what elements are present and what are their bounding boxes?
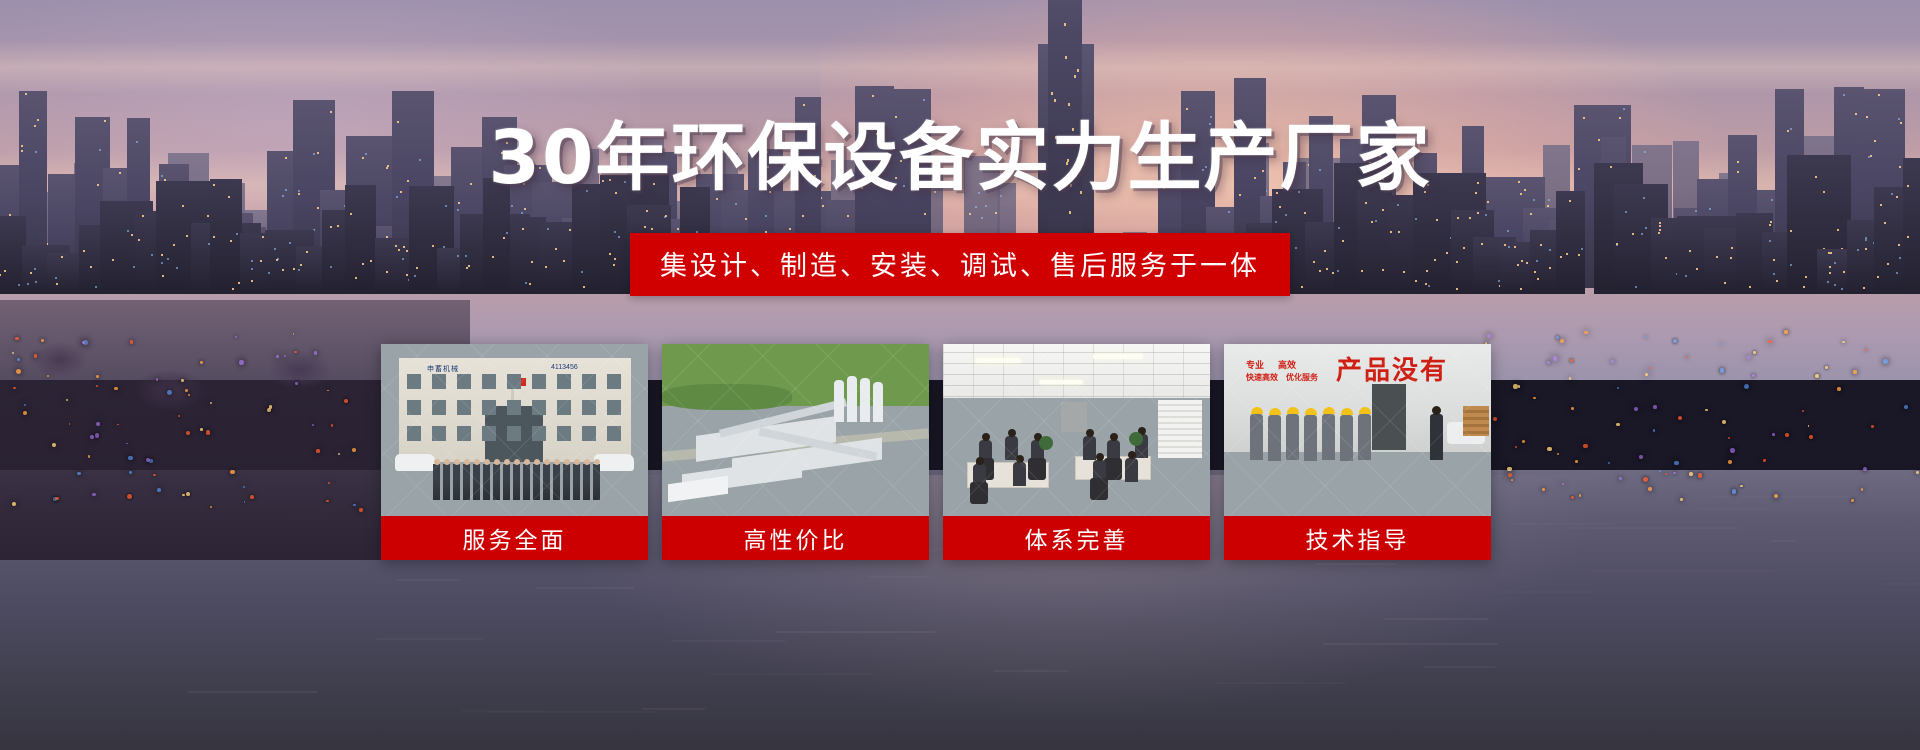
- building-window-light: [406, 250, 408, 252]
- building-window-light: [1827, 281, 1829, 283]
- building-window-light: [1456, 261, 1458, 263]
- building-window-light: [306, 251, 308, 253]
- building-window-light: [1361, 270, 1363, 272]
- feature-card[interactable]: 产品没有 专业 高效 快速高效 优化服务 技术指导: [1224, 344, 1491, 560]
- city-light: [90, 435, 94, 439]
- city-light: [130, 340, 133, 343]
- water-streak: [994, 670, 1068, 672]
- water-streak: [536, 587, 633, 589]
- city-light: [200, 428, 203, 431]
- city-light: [1784, 330, 1788, 334]
- building-window-light: [1285, 214, 1287, 216]
- building-window-light: [1749, 286, 1751, 288]
- city-light: [181, 379, 184, 382]
- water-streak: [1567, 527, 1738, 529]
- building-window-light: [1843, 271, 1845, 273]
- city-light: [353, 504, 355, 506]
- building-window-light: [268, 272, 270, 274]
- water-streak: [188, 691, 318, 693]
- city-light: [284, 355, 286, 357]
- building-window-light: [569, 229, 571, 231]
- building-window-light: [298, 269, 300, 271]
- building-window-light: [1830, 252, 1832, 254]
- building-window-light: [186, 235, 188, 237]
- building-window-light: [466, 267, 468, 269]
- building-window-light: [1428, 285, 1430, 287]
- city-light: [1511, 479, 1513, 481]
- building-window-light: [213, 236, 215, 238]
- building-window-light: [161, 254, 163, 256]
- city-light: [128, 456, 133, 461]
- building-window-light: [555, 248, 557, 250]
- building-window-light: [1415, 218, 1417, 220]
- building-window-light: [524, 208, 526, 210]
- building-window-light: [506, 232, 508, 234]
- building-window-light: [232, 288, 234, 290]
- building-window-light: [236, 233, 238, 235]
- building-window-light: [432, 245, 434, 247]
- building-window-light: [251, 280, 253, 282]
- building-window-light: [529, 283, 531, 285]
- city-light: [1732, 489, 1736, 493]
- watermark-mesh: [662, 344, 929, 516]
- city-light: [276, 355, 278, 357]
- building-window-light: [1877, 276, 1879, 278]
- feature-card-list: 申蓄机械 4113456 服务全面: [381, 344, 1491, 560]
- building-window-light: [1463, 247, 1465, 249]
- building-window-light: [1456, 288, 1458, 290]
- building-window-light: [1540, 244, 1542, 246]
- building-window-light: [1504, 244, 1506, 246]
- building-window-light: [362, 263, 364, 265]
- building-window-light: [83, 250, 85, 252]
- building-window-light: [1382, 209, 1384, 211]
- city-light: [1513, 384, 1517, 388]
- watermark-mesh: [381, 344, 648, 516]
- city-light: [34, 354, 37, 357]
- water-streak: [376, 638, 483, 640]
- building-window-light: [1457, 217, 1459, 219]
- page-title: 30年环保设备实力生产厂家: [0, 98, 1920, 205]
- building-window-light: [1659, 229, 1661, 231]
- city-light: [1575, 460, 1578, 463]
- water-streak: [1498, 591, 1592, 593]
- building-window-light: [511, 205, 513, 207]
- city-light: [1809, 435, 1813, 439]
- building-window-light: [581, 271, 583, 273]
- card-photo-company-office-building-with-staff: 申蓄机械 4113456: [381, 344, 648, 516]
- building-window-light: [330, 266, 332, 268]
- city-light: [1583, 444, 1587, 448]
- building-window-light: [251, 260, 253, 262]
- skyline-building: [1556, 191, 1584, 294]
- feature-card[interactable]: 高性价比: [662, 344, 929, 560]
- city-light: [23, 411, 27, 415]
- building-window-light: [646, 210, 648, 212]
- building-window-light: [274, 248, 276, 250]
- city-light: [1560, 339, 1564, 343]
- water-streak: [1713, 496, 1853, 498]
- city-light: [230, 470, 234, 474]
- building-window-light: [677, 228, 679, 230]
- building-window-light: [262, 236, 264, 238]
- building-window-light: [27, 283, 29, 285]
- city-light: [1643, 477, 1648, 482]
- city-light: [96, 422, 100, 426]
- water-streak: [1323, 643, 1498, 645]
- building-window-light: [1658, 232, 1660, 234]
- building-window-light: [330, 226, 332, 228]
- building-window-light: [1834, 284, 1836, 286]
- city-light: [235, 336, 237, 338]
- city-light: [1853, 370, 1856, 373]
- city-light: [1659, 470, 1661, 472]
- building-window-light: [872, 95, 874, 97]
- building-window-light: [1865, 248, 1867, 250]
- building-window-light: [1635, 286, 1637, 288]
- water-streak: [1698, 508, 1768, 510]
- water-streak: [868, 576, 933, 578]
- city-light: [1584, 331, 1587, 334]
- building-window-light: [1863, 287, 1865, 289]
- building-window-light: [398, 249, 400, 251]
- city-light: [24, 404, 26, 406]
- building-window-light: [386, 271, 388, 273]
- building-window-light: [1279, 206, 1281, 208]
- building-window-light: [847, 215, 849, 217]
- feature-card[interactable]: 申蓄机械 4113456 服务全面: [381, 344, 648, 560]
- building-window-light: [1632, 233, 1634, 235]
- building-window-light: [289, 242, 291, 244]
- building-window-light: [1342, 240, 1344, 242]
- building-window-light: [260, 260, 262, 262]
- building-window-light: [30, 272, 32, 274]
- building-window-light: [1665, 257, 1667, 259]
- building-window-light: [1469, 217, 1471, 219]
- building-window-light: [531, 261, 533, 263]
- building-window-light: [1770, 221, 1772, 223]
- building-window-light: [1517, 264, 1519, 266]
- water-streak: [397, 579, 459, 581]
- city-light: [1653, 405, 1656, 408]
- building-window-light: [355, 277, 357, 279]
- city-light: [1904, 405, 1908, 409]
- building-window-light: [1549, 249, 1551, 251]
- building-window-light: [1689, 250, 1691, 252]
- city-light: [1522, 440, 1525, 443]
- building-window-light: [337, 225, 339, 227]
- building-window-light: [1773, 259, 1775, 261]
- city-light: [117, 424, 119, 426]
- city-light: [210, 402, 212, 404]
- city-light: [1542, 488, 1545, 491]
- building-window-light: [1403, 271, 1405, 273]
- building-window-light: [1641, 233, 1643, 235]
- building-window-light: [1521, 260, 1523, 262]
- building-window-light: [1228, 211, 1230, 213]
- building-window-light: [822, 205, 824, 207]
- building-window-light: [457, 209, 459, 211]
- city-light: [186, 431, 190, 435]
- water-streak: [775, 631, 935, 633]
- building-window-light: [282, 269, 284, 271]
- card-photo-office-interior-with-employees: [943, 344, 1210, 516]
- building-window-light: [492, 256, 494, 258]
- building-window-light: [161, 262, 163, 264]
- building-window-light: [1436, 219, 1438, 221]
- building-window-light: [522, 228, 524, 230]
- card-label: 高性价比: [662, 516, 929, 560]
- building-window-light: [745, 218, 747, 220]
- building-window-light: [35, 281, 37, 283]
- city-light: [1648, 487, 1652, 491]
- building-window-light: [975, 206, 977, 208]
- building-window-light: [563, 260, 565, 262]
- building-window-light: [1709, 208, 1711, 210]
- building-window-light: [112, 259, 114, 261]
- building-window-light: [1530, 213, 1532, 215]
- building-window-light: [525, 282, 527, 284]
- building-window-light: [1884, 222, 1886, 224]
- building-window-light: [1790, 230, 1792, 232]
- building-window-light: [1313, 261, 1315, 263]
- building-window-light: [445, 205, 447, 207]
- building-window-light: [969, 213, 971, 215]
- building-window-light: [151, 254, 153, 256]
- building-window-light: [127, 230, 129, 232]
- city-light: [1653, 429, 1656, 432]
- city-light: [1747, 356, 1750, 359]
- watermark-mesh: [943, 344, 1210, 516]
- building-window-light: [406, 274, 408, 276]
- building-window-light: [468, 265, 470, 267]
- building-window-light: [370, 260, 372, 262]
- city-light: [1570, 359, 1573, 362]
- building-window-light: [1477, 212, 1479, 214]
- city-light: [1842, 341, 1844, 343]
- building-window-light: [665, 215, 667, 217]
- building-window-light: [1481, 243, 1483, 245]
- city-light: [316, 449, 319, 452]
- building-window-light: [644, 226, 646, 228]
- city-light: [1533, 397, 1536, 400]
- skyline-building: [1357, 189, 1389, 294]
- building-window-light: [1390, 231, 1392, 233]
- building-window-light: [1803, 286, 1805, 288]
- building-window-light: [614, 231, 616, 233]
- building-window-light: [56, 283, 58, 285]
- subtitle-banner: 集设计、制造、安装、调试、售后服务于一体: [630, 233, 1290, 296]
- building-window-light: [1295, 247, 1297, 249]
- city-light: [1916, 471, 1919, 474]
- building-window-light: [1616, 243, 1618, 245]
- water-streak: [642, 708, 705, 710]
- tower-light: [1077, 69, 1079, 72]
- building-window-light: [277, 258, 279, 260]
- building-window-light: [1338, 227, 1340, 229]
- building-window-light: [142, 215, 144, 217]
- building-window-light: [162, 275, 164, 277]
- city-light: [1547, 447, 1551, 451]
- feature-card[interactable]: 体系完善: [943, 344, 1210, 560]
- building-window-light: [1898, 244, 1900, 246]
- city-light: [312, 424, 314, 426]
- building-window-light: [1446, 252, 1448, 254]
- building-window-light: [1581, 248, 1583, 250]
- water-streak: [1315, 563, 1396, 565]
- building-window-light: [1841, 288, 1843, 290]
- building-window-light: [1769, 240, 1771, 242]
- building-window-light: [0, 274, 1, 276]
- building-window-light: [1790, 264, 1792, 266]
- building-window-light: [131, 234, 133, 236]
- water-streak: [710, 673, 871, 675]
- city-light: [328, 482, 330, 484]
- building-window-light: [395, 245, 397, 247]
- building-window-light: [1731, 247, 1733, 249]
- building-window-light: [1566, 253, 1568, 255]
- building-window-light: [1724, 282, 1726, 284]
- building-window-light: [613, 264, 615, 266]
- building-window-light: [317, 207, 319, 209]
- building-window-light: [182, 205, 184, 207]
- city-light: [188, 394, 190, 396]
- building-window-light: [1773, 273, 1775, 275]
- city-light: [1837, 387, 1841, 391]
- building-window-light: [1560, 256, 1562, 258]
- building-window-light: [1382, 269, 1384, 271]
- building-window-light: [1887, 263, 1889, 265]
- building-window-light: [402, 258, 404, 260]
- building-window-light: [1547, 205, 1549, 207]
- building-window-light: [416, 267, 418, 269]
- tower-light: [1064, 23, 1066, 26]
- city-light: [1744, 384, 1749, 389]
- building-window-light: [61, 256, 63, 258]
- building-window-light: [1507, 230, 1509, 232]
- city-light: [1557, 453, 1559, 455]
- building-window-light: [18, 284, 20, 286]
- building-window-light: [583, 286, 585, 288]
- building-window-light: [403, 246, 405, 248]
- city-light: [1634, 407, 1638, 411]
- city-light: [1579, 494, 1582, 497]
- city-light: [1553, 356, 1557, 360]
- water-streak: [671, 640, 786, 642]
- building-window-light: [1730, 257, 1732, 259]
- city-light: [1665, 473, 1667, 475]
- building-window-light: [173, 244, 175, 246]
- building-window-light: [1485, 214, 1487, 216]
- building-window-light: [1514, 246, 1516, 248]
- building-window-light: [90, 266, 92, 268]
- building-window-light: [1776, 280, 1778, 282]
- city-light: [1774, 494, 1778, 498]
- city-light: [1883, 359, 1888, 364]
- building-window-light: [1834, 262, 1836, 264]
- building-window-light: [34, 268, 36, 270]
- city-light: [82, 341, 85, 344]
- building-window-light: [1645, 227, 1647, 229]
- city-light: [129, 471, 131, 473]
- city-light: [114, 387, 118, 391]
- hero-banner: 30年环保设备实力生产厂家 集设计、制造、安装、调试、售后服务于一体 申蓄机械 …: [0, 0, 1920, 750]
- tower-light: [1074, 75, 1076, 78]
- water-streak: [1510, 523, 1615, 525]
- card-label: 体系完善: [943, 516, 1210, 560]
- card-photo-factory-workers-in-helmets: 产品没有 专业 高效 快速高效 优化服务: [1224, 344, 1491, 516]
- city-light: [1611, 360, 1614, 363]
- building-window-light: [1878, 94, 1880, 96]
- building-window-light: [651, 228, 653, 230]
- building-window-light: [1659, 222, 1661, 224]
- water-streak: [1424, 666, 1495, 668]
- card-photo-aerial-view-of-production-plant: [662, 344, 929, 516]
- building-window-light: [1659, 225, 1661, 227]
- card-label: 技术指导: [1224, 516, 1491, 560]
- city-light: [55, 497, 59, 501]
- building-window-light: [789, 228, 791, 230]
- city-light: [1752, 374, 1755, 377]
- watermark-mesh: [1224, 344, 1491, 516]
- tower-light: [1065, 56, 1067, 59]
- city-light: [1674, 461, 1679, 466]
- city-light: [1608, 462, 1610, 464]
- city-light: [12, 502, 16, 506]
- city-light: [127, 494, 132, 499]
- city-light: [1705, 409, 1708, 412]
- city-light: [1515, 446, 1517, 448]
- building-window-light: [765, 215, 767, 217]
- building-window-light: [300, 264, 302, 266]
- building-window-light: [207, 215, 209, 217]
- building-window-light: [1857, 249, 1859, 251]
- city-light: [1728, 437, 1730, 439]
- building-window-light: [1534, 271, 1536, 273]
- building-window-light: [1415, 280, 1417, 282]
- building-window-light: [1371, 221, 1373, 223]
- building-window-light: [1685, 275, 1687, 277]
- city-light: [1863, 467, 1867, 471]
- building-window-light: [465, 255, 467, 257]
- building-window-light: [609, 253, 611, 255]
- building-window-light: [1537, 278, 1539, 280]
- city-light: [1698, 473, 1702, 477]
- card-label: 服务全面: [381, 516, 648, 560]
- building-window-light: [457, 255, 459, 257]
- city-light: [1571, 496, 1574, 499]
- building-window-light: [350, 213, 352, 215]
- tower-light: [1069, 211, 1071, 214]
- city-light: [331, 424, 333, 426]
- building-window-light: [545, 266, 547, 268]
- building-window-light: [924, 213, 926, 215]
- building-window-light: [1907, 236, 1909, 238]
- water-streak: [488, 711, 656, 713]
- city-light: [239, 360, 243, 364]
- building-window-light: [1375, 220, 1377, 222]
- city-light: [96, 385, 98, 387]
- city-light: [1730, 448, 1735, 453]
- building-window-light: [1896, 272, 1898, 274]
- city-light: [344, 399, 348, 403]
- water-streak: [1771, 540, 1796, 542]
- building-window-light: [414, 275, 416, 277]
- building-window-light: [547, 228, 549, 230]
- building-window-light: [1326, 268, 1328, 270]
- building-window-light: [230, 240, 232, 242]
- building-window-light: [1520, 288, 1522, 290]
